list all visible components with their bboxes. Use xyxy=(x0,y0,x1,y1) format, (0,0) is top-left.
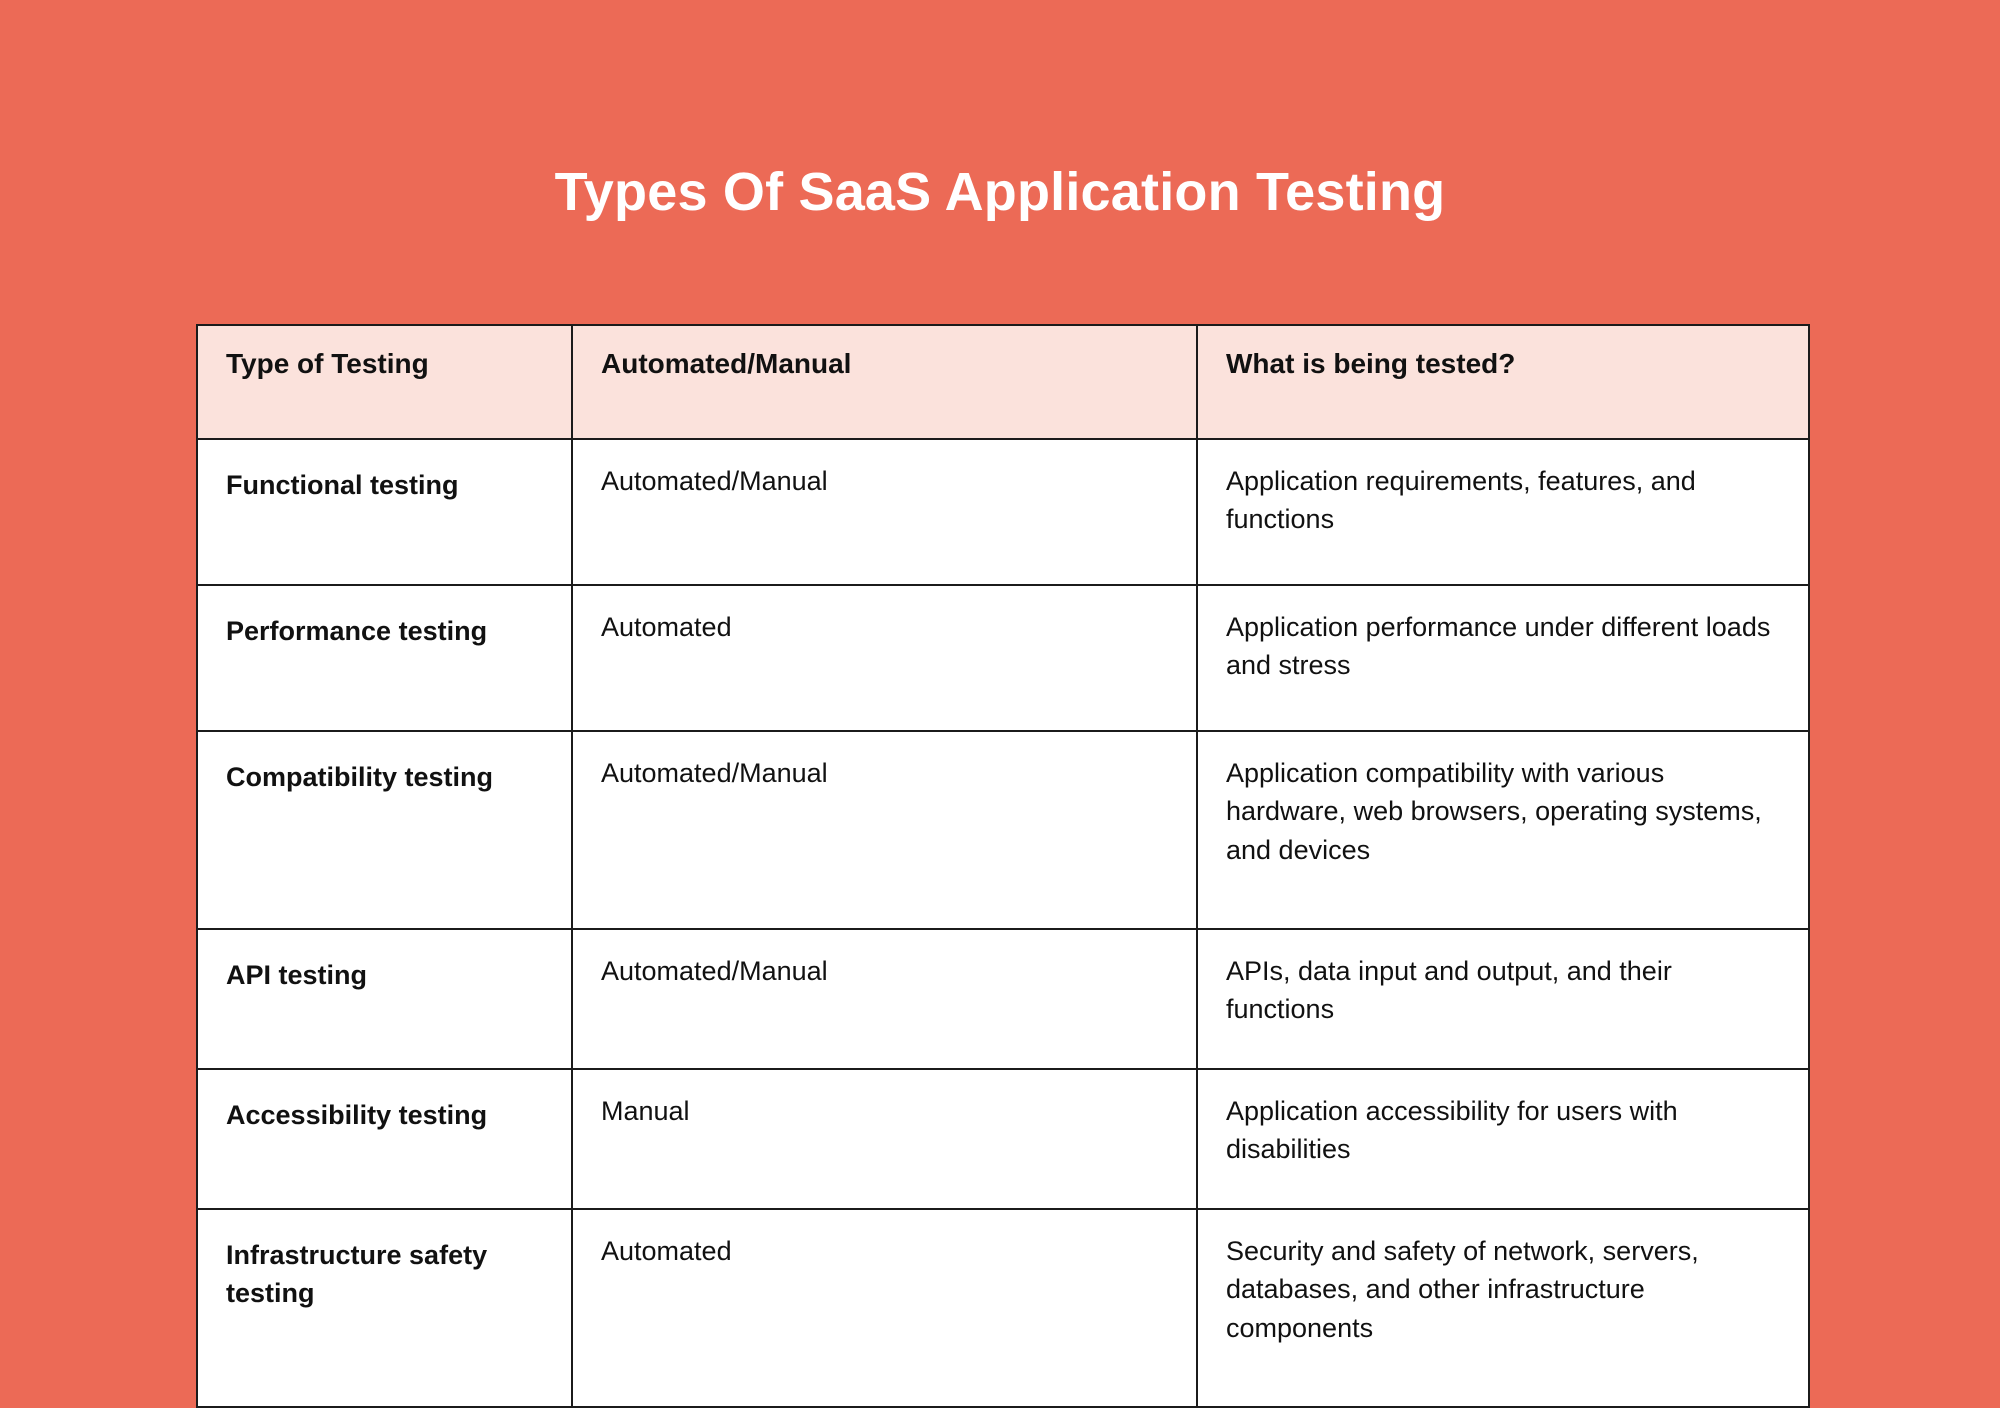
table-row: API testing Automated/Manual APIs, data … xyxy=(197,929,1809,1069)
table-header-row: Type of Testing Automated/Manual What is… xyxy=(197,325,1809,439)
cell-testing-type: Compatibility testing xyxy=(197,731,572,929)
cell-automation-mode: Automated xyxy=(572,585,1197,731)
cell-testing-type: Performance testing xyxy=(197,585,572,731)
cell-automation-mode: Automated xyxy=(572,1209,1197,1407)
cell-automation-mode: Manual xyxy=(572,1069,1197,1209)
cell-what-is-tested: Application requirements, features, and … xyxy=(1197,439,1809,585)
cell-testing-type: Accessibility testing xyxy=(197,1069,572,1209)
table-body: Functional testing Automated/Manual Appl… xyxy=(197,439,1809,1407)
testing-types-table: Type of Testing Automated/Manual What is… xyxy=(196,324,1810,1408)
cell-testing-type: Infrastructure safety testing xyxy=(197,1209,572,1407)
cell-automation-mode: Automated/Manual xyxy=(572,439,1197,585)
column-header-what-is-being-tested: What is being tested? xyxy=(1197,325,1809,439)
table-header: Type of Testing Automated/Manual What is… xyxy=(197,325,1809,439)
table-row: Accessibility testing Manual Application… xyxy=(197,1069,1809,1209)
testing-types-table-wrapper: Type of Testing Automated/Manual What is… xyxy=(196,324,1808,1408)
cell-automation-mode: Automated/Manual xyxy=(572,929,1197,1069)
table-row: Infrastructure safety testing Automated … xyxy=(197,1209,1809,1407)
table-row: Functional testing Automated/Manual Appl… xyxy=(197,439,1809,585)
cell-what-is-tested: APIs, data input and output, and their f… xyxy=(1197,929,1809,1069)
cell-what-is-tested: Security and safety of network, servers,… xyxy=(1197,1209,1809,1407)
table-row: Performance testing Automated Applicatio… xyxy=(197,585,1809,731)
cell-what-is-tested: Application performance under different … xyxy=(1197,585,1809,731)
infographic-page: Types Of SaaS Application Testing Type o… xyxy=(0,0,2000,1398)
column-header-automated-manual: Automated/Manual xyxy=(572,325,1197,439)
cell-what-is-tested: Application compatibility with various h… xyxy=(1197,731,1809,929)
table-row: Compatibility testing Automated/Manual A… xyxy=(197,731,1809,929)
cell-testing-type: API testing xyxy=(197,929,572,1069)
cell-testing-type: Functional testing xyxy=(197,439,572,585)
column-header-type-of-testing: Type of Testing xyxy=(197,325,572,439)
cell-automation-mode: Automated/Manual xyxy=(572,731,1197,929)
page-title: Types Of SaaS Application Testing xyxy=(0,161,2000,223)
cell-what-is-tested: Application accessibility for users with… xyxy=(1197,1069,1809,1209)
